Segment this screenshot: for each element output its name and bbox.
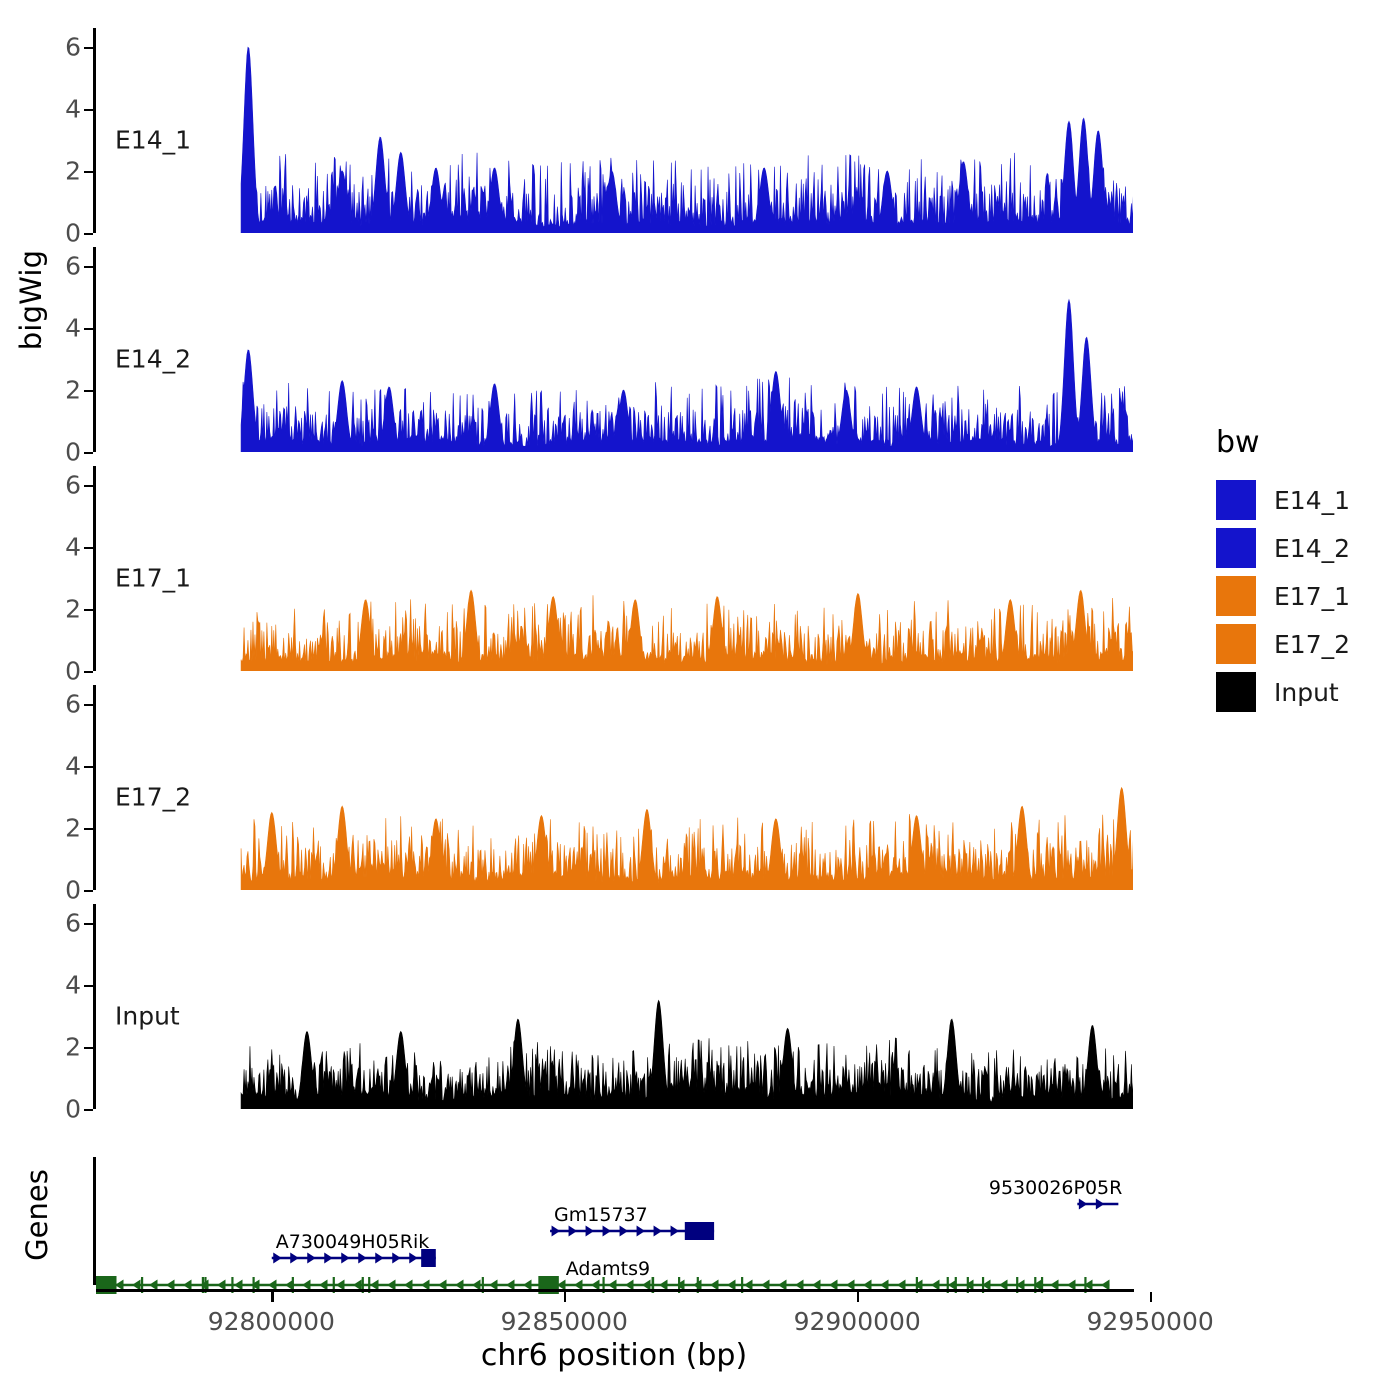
strand-arrow bbox=[307, 1253, 316, 1264]
gene-label: 9530026P05R bbox=[988, 1177, 1121, 1199]
y-tick bbox=[84, 266, 93, 268]
y-tick bbox=[84, 766, 93, 768]
x-tick bbox=[564, 1292, 566, 1302]
strand-arrow bbox=[341, 1253, 350, 1264]
y-tick bbox=[84, 390, 93, 392]
y-tick-label: 4 bbox=[65, 970, 81, 999]
gene-label: Gm15737 bbox=[554, 1204, 648, 1226]
y-tick-label: 0 bbox=[65, 657, 81, 686]
y-tick-label: 6 bbox=[65, 689, 81, 718]
y-tick bbox=[84, 923, 93, 925]
legend-item-input[interactable]: Input bbox=[1216, 670, 1396, 714]
y-tick bbox=[84, 47, 93, 49]
strand-arrow bbox=[358, 1253, 367, 1264]
gene-track-panel: Adamts9A730049H05RikGm157379530026P05R bbox=[93, 1157, 1133, 1305]
legend-item-e14_2[interactable]: E14_2 bbox=[1216, 526, 1396, 570]
strand-arrow bbox=[290, 1253, 299, 1264]
gene-label: Adamts9 bbox=[565, 1258, 649, 1280]
legend-swatch bbox=[1216, 624, 1256, 664]
strand-arrow bbox=[551, 1226, 560, 1237]
legend-item-e17_1[interactable]: E17_1 bbox=[1216, 574, 1396, 618]
x-tick-label: 92850000 bbox=[501, 1307, 628, 1336]
y-tick-label: 0 bbox=[65, 1095, 81, 1124]
y-tick-label: 2 bbox=[65, 813, 81, 842]
y-tick-label: 6 bbox=[65, 470, 81, 499]
gene-feature-9530026p05r[interactable]: 9530026P05R bbox=[988, 1177, 1121, 1210]
x-tick bbox=[271, 1292, 273, 1302]
y-tick bbox=[84, 233, 93, 235]
y-tick-label: 4 bbox=[65, 532, 81, 561]
legend-label: E14_1 bbox=[1274, 486, 1350, 515]
y-tick bbox=[84, 171, 93, 173]
legend-swatch bbox=[1216, 480, 1256, 520]
y-tick-label: 0 bbox=[65, 876, 81, 905]
y-tick bbox=[84, 328, 93, 330]
genes-axis-title: Genes bbox=[20, 1140, 56, 1290]
x-axis-line bbox=[96, 1289, 1134, 1292]
y-tick-label: 6 bbox=[65, 908, 81, 937]
plot-area bbox=[96, 247, 1133, 452]
strand-arrow bbox=[636, 1226, 645, 1237]
plot-area bbox=[96, 904, 1133, 1109]
y-tick-label: 6 bbox=[65, 32, 81, 61]
x-tick bbox=[1150, 1292, 1152, 1302]
y-tick bbox=[84, 1109, 93, 1111]
bigwig-track-e14_1: 0246E14_1 bbox=[93, 28, 1133, 233]
plot-area bbox=[96, 466, 1133, 671]
y-tick-label: 2 bbox=[65, 156, 81, 185]
strand-arrow bbox=[585, 1226, 594, 1237]
plot-area bbox=[96, 685, 1133, 890]
strand-arrow bbox=[619, 1226, 628, 1237]
y-tick bbox=[84, 828, 93, 830]
strand-arrow bbox=[409, 1253, 418, 1264]
bigwig-track-input: 0246Input bbox=[93, 904, 1133, 1109]
strand-arrow bbox=[375, 1253, 384, 1264]
legend: bw E14_1E14_2E17_1E17_2Input bbox=[1216, 425, 1396, 718]
gene-label: A730049H05Rik bbox=[275, 1231, 428, 1253]
y-tick bbox=[84, 485, 93, 487]
bigwig-track-e17_1: 0246E17_1 bbox=[93, 466, 1133, 671]
exon-block bbox=[684, 1222, 713, 1240]
y-tick bbox=[84, 890, 93, 892]
legend-item-e17_2[interactable]: E17_2 bbox=[1216, 622, 1396, 666]
strand-arrow bbox=[670, 1226, 679, 1237]
y-tick-label: 4 bbox=[65, 94, 81, 123]
y-tick-label: 0 bbox=[65, 219, 81, 248]
legend-item-e14_1[interactable]: E14_1 bbox=[1216, 478, 1396, 522]
strand-arrow bbox=[273, 1253, 282, 1264]
strand-arrow bbox=[324, 1253, 333, 1264]
strand-arrow bbox=[392, 1253, 401, 1264]
legend-label: E14_2 bbox=[1274, 534, 1350, 563]
legend-swatch bbox=[1216, 672, 1256, 712]
bigwig-track-e14_2: 0246E14_2 bbox=[93, 247, 1133, 452]
y-tick bbox=[84, 547, 93, 549]
legend-swatch bbox=[1216, 528, 1256, 568]
strand-arrow bbox=[1095, 1199, 1104, 1210]
y-tick-label: 2 bbox=[65, 375, 81, 404]
x-tick bbox=[857, 1292, 859, 1302]
y-tick bbox=[84, 704, 93, 706]
strand-arrow bbox=[602, 1226, 610, 1237]
y-axis-title: bigWig bbox=[14, 170, 54, 430]
x-tick-label: 92950000 bbox=[1087, 1307, 1214, 1336]
y-tick-label: 4 bbox=[65, 313, 81, 342]
x-tick-label: 92900000 bbox=[794, 1307, 921, 1336]
y-tick bbox=[84, 671, 93, 673]
y-tick bbox=[84, 452, 93, 454]
strand-arrow bbox=[568, 1226, 577, 1237]
y-tick bbox=[84, 1047, 93, 1049]
legend-swatch bbox=[1216, 576, 1256, 616]
y-tick-label: 0 bbox=[65, 438, 81, 467]
strand-arrow bbox=[653, 1226, 662, 1237]
legend-label: E17_2 bbox=[1274, 630, 1350, 659]
y-tick-label: 2 bbox=[65, 594, 81, 623]
gene-feature-a730049h05rik[interactable]: A730049H05Rik bbox=[271, 1231, 435, 1267]
bigwig-track-e17_2: 0246E17_2 bbox=[93, 685, 1133, 890]
gene-feature-gm15737[interactable]: Gm15737 bbox=[550, 1204, 714, 1240]
legend-items: E14_1E14_2E17_1E17_2Input bbox=[1216, 478, 1396, 714]
x-axis-title: chr6 position (bp) bbox=[95, 1338, 1133, 1373]
y-tick bbox=[84, 609, 93, 611]
y-tick-label: 4 bbox=[65, 751, 81, 780]
y-tick-label: 6 bbox=[65, 251, 81, 280]
legend-label: E17_1 bbox=[1274, 582, 1350, 611]
legend-title: bw bbox=[1216, 425, 1396, 460]
y-tick bbox=[84, 985, 93, 987]
plot-area bbox=[96, 28, 1133, 233]
y-tick bbox=[84, 109, 93, 111]
y-tick-label: 2 bbox=[65, 1032, 81, 1061]
x-tick-label: 92800000 bbox=[208, 1307, 335, 1336]
legend-label: Input bbox=[1274, 678, 1339, 707]
strand-arrow bbox=[1078, 1199, 1087, 1210]
